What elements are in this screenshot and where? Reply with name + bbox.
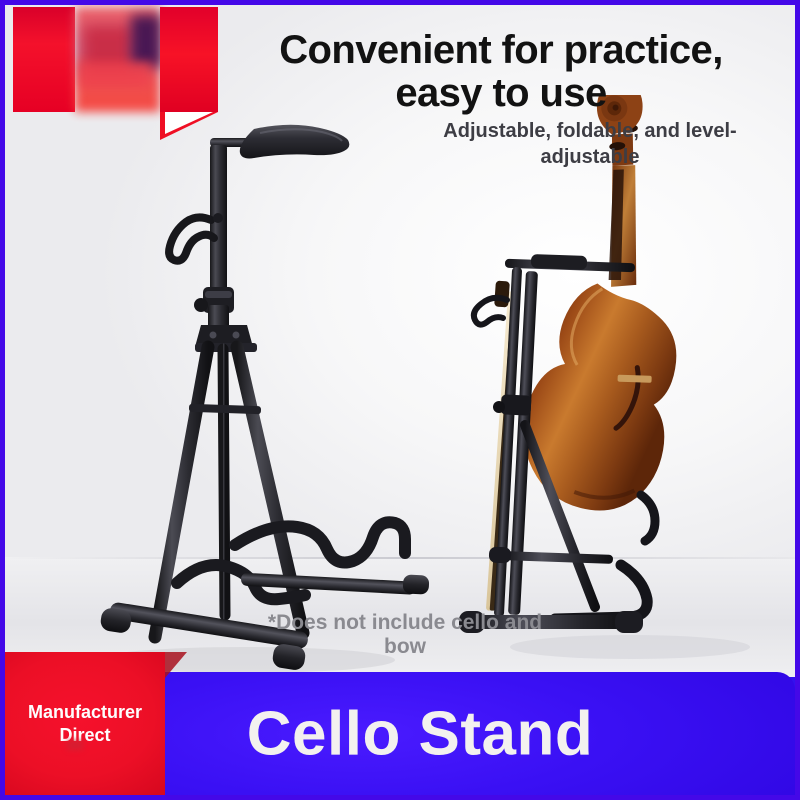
disclaimer-text: *Does not include cello and bow [245,611,565,659]
page-title: Convenient for practice, easy to use [241,29,761,115]
badge-corner-fold [165,652,187,678]
stand-cradle-arm-upper [235,522,405,562]
manufacturer-direct-badge: Manufacturer Direct [5,652,165,795]
stand-center-strut [223,349,225,615]
stand-leg-left [155,347,208,637]
stand-rear-foot-bar [241,573,430,595]
stand-top-yoke [210,125,349,159]
photo-stage: Convenient for practice, easy to use Adj… [5,5,795,677]
cradle-upper-support [641,495,655,541]
product-poster: Convenient for practice, easy to use Adj… [0,0,800,800]
stand-leg-right [237,347,303,633]
cradle-arm-right [555,565,647,619]
height-clamp-right [493,394,532,416]
cello-bridge [618,375,652,383]
page-subtitle: Adjustable, foldable, and level-adjustab… [425,119,755,170]
cello-on-stand-image [445,95,795,675]
badge-label: Manufacturer Direct [5,701,165,746]
bow-frog [494,281,510,308]
badge-speck [67,740,83,750]
badge-label-line1: Manufacturer [5,701,165,724]
bow-hook [169,217,214,260]
cello-neck [584,160,664,293]
badge-label-line2: Direct [5,724,165,747]
